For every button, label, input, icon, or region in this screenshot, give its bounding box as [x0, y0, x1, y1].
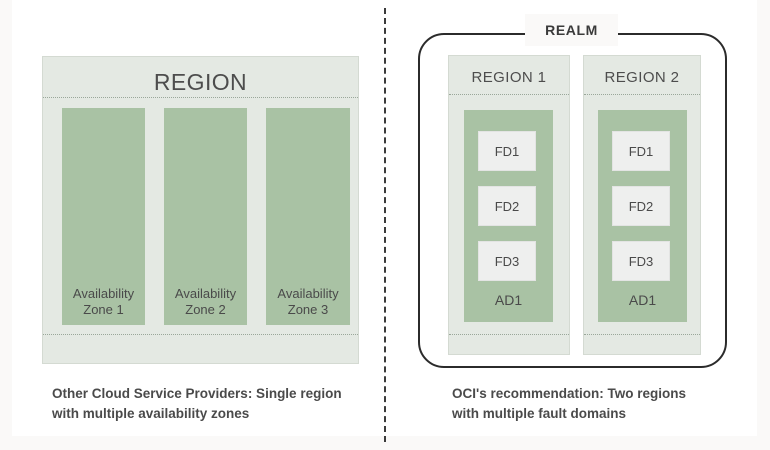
- left-region-title: REGION: [43, 69, 358, 96]
- region-1-fault-domain-2: FD2: [478, 186, 536, 226]
- availability-zone-3: Availability Zone 3: [266, 108, 350, 325]
- availability-zone-2: Availability Zone 2: [164, 108, 247, 325]
- availability-zone-1-label-line2: Zone 1: [62, 302, 145, 318]
- availability-zone-1-label-line1: Availability: [62, 286, 145, 302]
- availability-zone-3-label-line1: Availability: [266, 286, 350, 302]
- right-region-1-bottom-divider: [449, 334, 569, 335]
- left-region-top-divider: [43, 97, 358, 98]
- right-region-2-top-divider: [584, 94, 700, 95]
- left-caption-line1: Other Cloud Service Providers: Single re…: [52, 384, 372, 404]
- right-region-2-title: REGION 2: [584, 69, 700, 86]
- region-1-ad-label: AD1: [464, 292, 553, 308]
- right-caption-line1: OCI's recommendation: Two regions: [452, 384, 752, 404]
- availability-zone-3-label-line2: Zone 3: [266, 302, 350, 318]
- region-1-fault-domain-1: FD1: [478, 131, 536, 171]
- region-2-fault-domain-2: FD2: [612, 186, 670, 226]
- region-2-fault-domain-1: FD1: [612, 131, 670, 171]
- region-2-fault-domain-3: FD3: [612, 241, 670, 281]
- availability-zone-2-label-line1: Availability: [164, 286, 247, 302]
- right-region-1-title: REGION 1: [449, 69, 569, 86]
- diagram-canvas: REGION Availability Zone 1 Availability …: [0, 0, 770, 450]
- right-caption: OCI's recommendation: Two regions with m…: [452, 384, 752, 424]
- availability-zone-2-label-line2: Zone 2: [164, 302, 247, 318]
- realm-label: REALM: [525, 14, 618, 46]
- left-caption-line2: with multiple availability zones: [52, 404, 372, 424]
- right-region-2-bottom-divider: [584, 334, 700, 335]
- availability-zone-1: Availability Zone 1: [62, 108, 145, 325]
- left-region-bottom-divider: [43, 334, 358, 335]
- right-region-1-top-divider: [449, 94, 569, 95]
- left-caption: Other Cloud Service Providers: Single re…: [52, 384, 372, 424]
- panel-divider: [384, 8, 386, 442]
- right-caption-line2: with multiple fault domains: [452, 404, 752, 424]
- region-1-fault-domain-3: FD3: [478, 241, 536, 281]
- region-2-ad-label: AD1: [598, 292, 687, 308]
